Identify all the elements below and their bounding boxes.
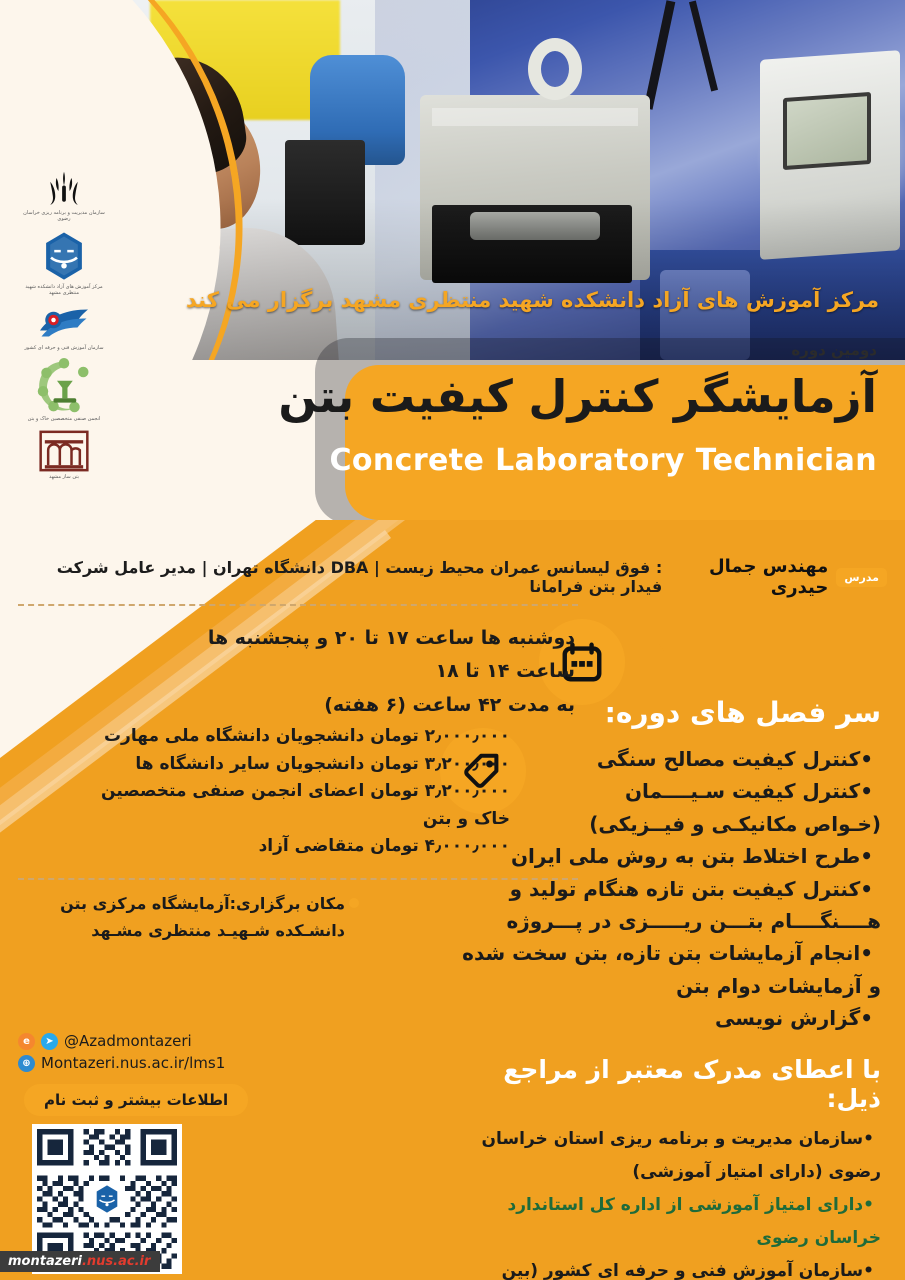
list-item: (خـواص مکانیکـی و فیــزیکی) [451,808,881,840]
certificates-title: با اعطای مدرک معتبر از مراجع ذیل: [451,1055,881,1113]
iran-emblem-icon [44,168,84,208]
qr-center-logo [89,1181,125,1217]
eitaa-icon[interactable]: e [18,1033,35,1050]
logo-beton-saz-mashhad: بتن ساز مشهد [39,430,89,480]
list-item: گزارش نویسی [451,1002,881,1034]
list-item: انجام آزمایشات بتن تازه، بتن سخت شده و آ… [451,937,881,1002]
pricing-block: ۲٫۰۰۰٫۰۰۰ تومان دانشجویان دانشگاه ملی مه… [70,723,510,861]
page-title-english: Concrete Laboratory Technician [329,443,877,478]
price-row: ۳٫۲۰۰٫۰۰۰ تومان اعضای انجمن صنفی متخصصین… [70,778,510,833]
divider-top [18,604,578,606]
logo-caption: مرکز آموزش های آزاد دانشکده شهید منتظری … [20,284,108,297]
logo-iran-emblem: سازمان مدیریت و برنامه ریزی خراسان رضوی [20,168,108,223]
poster-root: سازمان مدیریت و برنامه ریزی خراسان رضوی … [0,0,905,1280]
edition-label: دومین دوره [791,341,877,359]
price-row: ۳٫۲۰۰٫۰۰۰ تومان دانشجویان سایر دانشگاه ه… [70,751,510,779]
logo-column: سازمان مدیریت و برنامه ریزی خراسان رضوی … [18,168,110,480]
website-url[interactable]: Montazeri.nus.ac.ir/lms1 [41,1054,225,1072]
logo-soil-concrete-association: انجمن صنفی متخصصین خاک و بتن [28,358,101,422]
schedule-block: دوشنبه ها ساعت ۱۷ تا ۲۰ و پنجشنبه ها ساع… [155,622,575,722]
logo-caption: بتن ساز مشهد [49,474,79,480]
national-skills-university-icon [92,1184,122,1214]
list-item: سازمان آموزش فنی و حرفه ای کشور (بین الم… [451,1255,881,1280]
contact-block: e ➤ @Azadmontazeri ⊕ Montazeri.nus.ac.ir… [18,1032,225,1076]
price-row: ۴٫۰۰۰٫۰۰۰ تومان متقاضی آزاد [70,833,510,861]
watermark-site-name: montazeri [8,1254,82,1269]
schedule-line: به مدت ۴۲ ساعت (۶ هفته) [155,689,575,722]
list-item: هــــنگــــام بتـــن ریـــــزی در پـــرو… [451,905,881,937]
venue-line-2: دانشـکده شـهیـد منتظری مشـهد [45,917,345,944]
price-row: ۲٫۰۰۰٫۰۰۰ تومان دانشجویان دانشگاه ملی مه… [70,723,510,751]
soil-concrete-association-icon [36,358,92,414]
logo-caption: انجمن صنفی متخصصین خاک و بتن [28,416,101,422]
certificates-list: سازمان مدیریت و برنامه ریزی استان خراسان… [451,1123,881,1280]
watermark-domain: .nus.ac.ir [82,1254,150,1269]
globe-icon[interactable]: ⊕ [18,1055,35,1072]
telegram-icon[interactable]: ➤ [41,1033,58,1050]
instructor-name: مهندس جمال حیدری [670,556,828,598]
logo-national-skills-university: مرکز آموزش های آزاد دانشکده شهید منتظری … [20,230,108,297]
footer-watermark: montazeri.nus.ac.ir [0,1251,160,1272]
instructor-row: مدرس مهندس جمال حیدری : فوق لیسانس عمران… [20,556,887,598]
instructor-detail: : فوق لیسانس عمران محیط زیست | DBA دانشگ… [20,558,662,596]
divider-bottom [18,878,578,880]
venue-block: مکان برگزاری:آزمایشگاه مرکزی بتن دانشـکد… [45,890,345,944]
website-row[interactable]: ⊕ Montazeri.nus.ac.ir/lms1 [18,1054,225,1072]
page-title: آزمایشگر کنترل کیفیت بتن [278,372,877,422]
logo-caption: سازمان مدیریت و برنامه ریزی خراسان رضوی [20,210,108,223]
register-button[interactable]: اطلاعات بیشتر و ثبت نام [24,1084,248,1116]
venue-value: آزمایشگاه مرکزی بتن [60,894,230,913]
organizer-line: مرکز آموزش های آزاد دانشکده شهید منتظری … [186,288,879,312]
schedule-line: دوشنبه ها ساعت ۱۷ تا ۲۰ و پنجشنبه ها ساع… [155,622,575,689]
logo-caption: سازمان آموزش فنی و حرفه ای کشور [24,345,103,351]
list-item: طرح اختلاط بتن به روش ملی ایران [451,840,881,872]
venue-label: مکان برگزاری: [230,894,345,913]
social-handle-row[interactable]: e ➤ @Azadmontazeri [18,1032,225,1050]
venue-bullet-icon [349,898,359,908]
list-item: دارای امتیاز آموزشی از اداره کل استاندار… [451,1189,881,1255]
instructor-badge: مدرس [836,568,887,587]
beton-saz-mashhad-icon [39,430,89,472]
logo-technical-vocational: سازمان آموزش فنی و حرفه ای کشور [24,303,103,351]
national-skills-university-icon [38,230,90,282]
list-item: سازمان مدیریت و برنامه ریزی استان خراسان… [451,1123,881,1189]
technical-vocational-organization-icon [37,303,91,343]
social-handle[interactable]: @Azadmontazeri [64,1032,192,1050]
venue-line-1: مکان برگزاری:آزمایشگاه مرکزی بتن [45,890,345,917]
